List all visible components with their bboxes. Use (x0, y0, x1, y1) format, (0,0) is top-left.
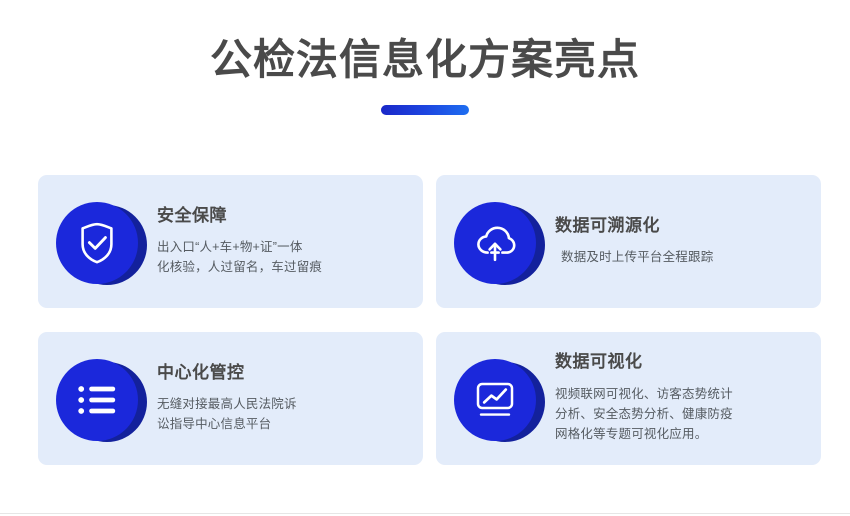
feature-card-data-traceability[interactable]: 数据可溯源化 数据及时上传平台全程跟踪 (436, 175, 821, 308)
card-description: 数据及时上传平台全程跟踪 (555, 247, 807, 267)
card-description-line: 化核验，人过留名，车过留痕 (157, 257, 409, 277)
card-text: 数据可视化 视频联网可视化、访客态势统计 分析、安全态势分析、健康防疫 网格化等… (555, 352, 807, 444)
feature-card-security[interactable]: 安全保障 出入口“人+车+物+证”一体 化核验，人过留名，车过留痕 (38, 175, 423, 308)
chart-monitor-icon (474, 380, 516, 420)
card-description-line: 网格化等专题可视化应用。 (555, 424, 807, 444)
card-title: 中心化管控 (157, 363, 409, 383)
page-header: 公检法信息化方案亮点 (0, 0, 850, 115)
card-title: 安全保障 (157, 206, 409, 226)
bullet-list-icon (76, 383, 118, 417)
card-description: 无缝对接最高人民法院诉 讼指导中心信息平台 (157, 394, 409, 435)
badge-main (56, 202, 138, 284)
page-root: 公检法信息化方案亮点 安全保障 出入口“人+车+ (0, 0, 850, 516)
badge-main (56, 359, 138, 441)
shield-check-icon (77, 221, 117, 265)
badge-main (454, 202, 536, 284)
card-description-line: 出入口“人+车+物+证”一体 (157, 237, 409, 257)
card-text: 数据可溯源化 数据及时上传平台全程跟踪 (555, 216, 807, 268)
card-title: 数据可溯源化 (555, 216, 807, 236)
card-description-line: 无缝对接最高人民法院诉 (157, 394, 409, 414)
feature-card-centralized-control[interactable]: 中心化管控 无缝对接最高人民法院诉 讼指导中心信息平台 (38, 332, 423, 465)
badge-main (454, 359, 536, 441)
feature-card-data-visualization[interactable]: 数据可视化 视频联网可视化、访客态势统计 分析、安全态势分析、健康防疫 网格化等… (436, 332, 821, 465)
icon-badge (449, 355, 545, 443)
bottom-divider (0, 513, 850, 514)
card-description: 视频联网可视化、访客态势统计 分析、安全态势分析、健康防疫 网格化等专题可视化应… (555, 384, 807, 445)
icon-badge (51, 198, 147, 286)
card-text: 安全保障 出入口“人+车+物+证”一体 化核验，人过留名，车过留痕 (157, 206, 409, 278)
icon-badge (449, 198, 545, 286)
title-underline-bar (381, 105, 469, 115)
card-description: 出入口“人+车+物+证”一体 化核验，人过留名，车过留痕 (157, 237, 409, 278)
card-description-line: 数据及时上传平台全程跟踪 (561, 247, 807, 267)
card-description-line: 视频联网可视化、访客态势统计 (555, 384, 807, 404)
card-description-line: 分析、安全态势分析、健康防疫 (555, 404, 807, 424)
page-title: 公检法信息化方案亮点 (0, 36, 850, 84)
card-title: 数据可视化 (555, 352, 807, 372)
cloud-upload-icon (473, 222, 517, 264)
card-description-line: 讼指导中心信息平台 (157, 414, 409, 434)
card-text: 中心化管控 无缝对接最高人民法院诉 讼指导中心信息平台 (157, 363, 409, 435)
feature-card-grid: 安全保障 出入口“人+车+物+证”一体 化核验，人过留名，车过留痕 (38, 175, 818, 465)
icon-badge (51, 355, 147, 443)
